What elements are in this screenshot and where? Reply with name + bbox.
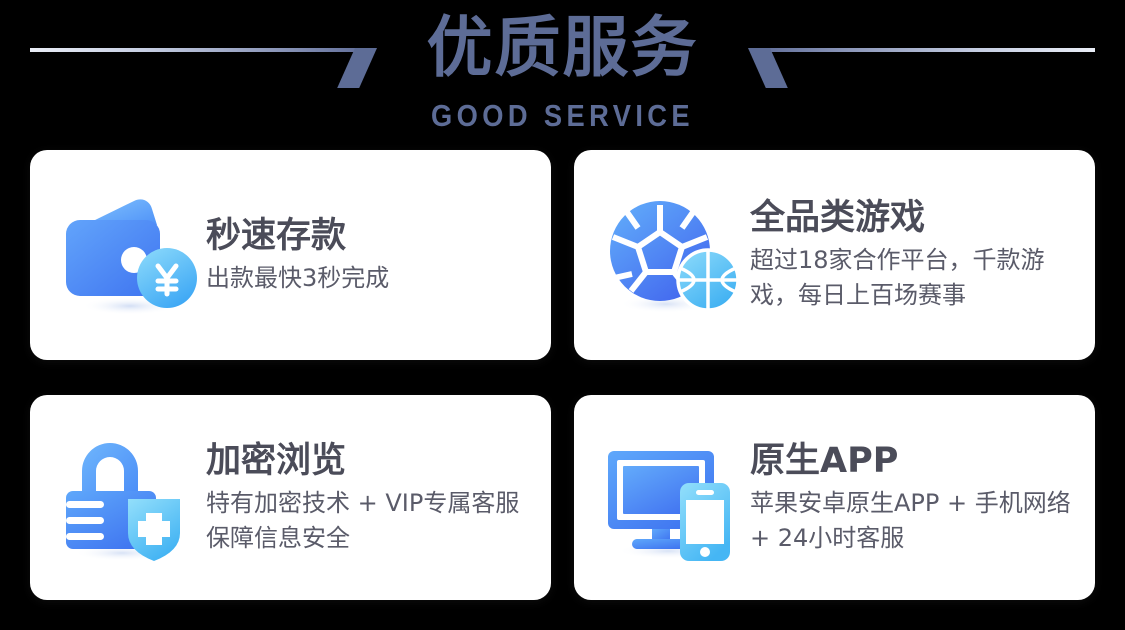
card-title: 秒速存款 bbox=[206, 215, 389, 257]
lock-shield-icon bbox=[58, 433, 198, 563]
card-text-block: 秒速存款 出款最快3秒完成 bbox=[198, 215, 403, 296]
card-subtitle: 超过18家合作平台，千款游戏，每日上百场赛事 bbox=[750, 243, 1081, 313]
monitor-phone-icon bbox=[602, 433, 742, 563]
card-title: 全品类游戏 bbox=[750, 197, 1081, 239]
card-text-block: 加密浏览 特有加密技术 + VIP专属客服保障信息安全 bbox=[198, 440, 551, 556]
feature-card-fast-deposit[interactable]: 秒速存款 出款最快3秒完成 bbox=[30, 150, 551, 360]
card-title: 原生APP bbox=[750, 440, 1081, 482]
feature-card-encrypted-browsing[interactable]: 加密浏览 特有加密技术 + VIP专属客服保障信息安全 bbox=[30, 395, 551, 600]
card-subtitle: 出款最快3秒完成 bbox=[206, 261, 389, 296]
feature-card-all-games[interactable]: 全品类游戏 超过18家合作平台，千款游戏，每日上百场赛事 bbox=[574, 150, 1095, 360]
page-header: 优质服务 GOOD SERVICE bbox=[0, 0, 1125, 150]
card-subtitle: 特有加密技术 + VIP专属客服保障信息安全 bbox=[206, 486, 537, 556]
card-text-block: 全品类游戏 超过18家合作平台，千款游戏，每日上百场赛事 bbox=[742, 197, 1095, 313]
feature-card-native-app[interactable]: 原生APP 苹果安卓原生APP + 手机网络 + 24小时客服 bbox=[574, 395, 1095, 600]
card-text-block: 原生APP 苹果安卓原生APP + 手机网络 + 24小时客服 bbox=[742, 440, 1095, 556]
soccer-basketball-icon bbox=[602, 190, 742, 320]
page-title: 优质服务 bbox=[0, 7, 1125, 89]
wallet-yen-icon bbox=[58, 190, 198, 320]
feature-card-grid: 秒速存款 出款最快3秒完成 bbox=[30, 150, 1095, 600]
page-subtitle: GOOD SERVICE bbox=[68, 98, 1058, 134]
card-title: 加密浏览 bbox=[206, 440, 537, 482]
card-subtitle: 苹果安卓原生APP + 手机网络 + 24小时客服 bbox=[750, 486, 1081, 556]
